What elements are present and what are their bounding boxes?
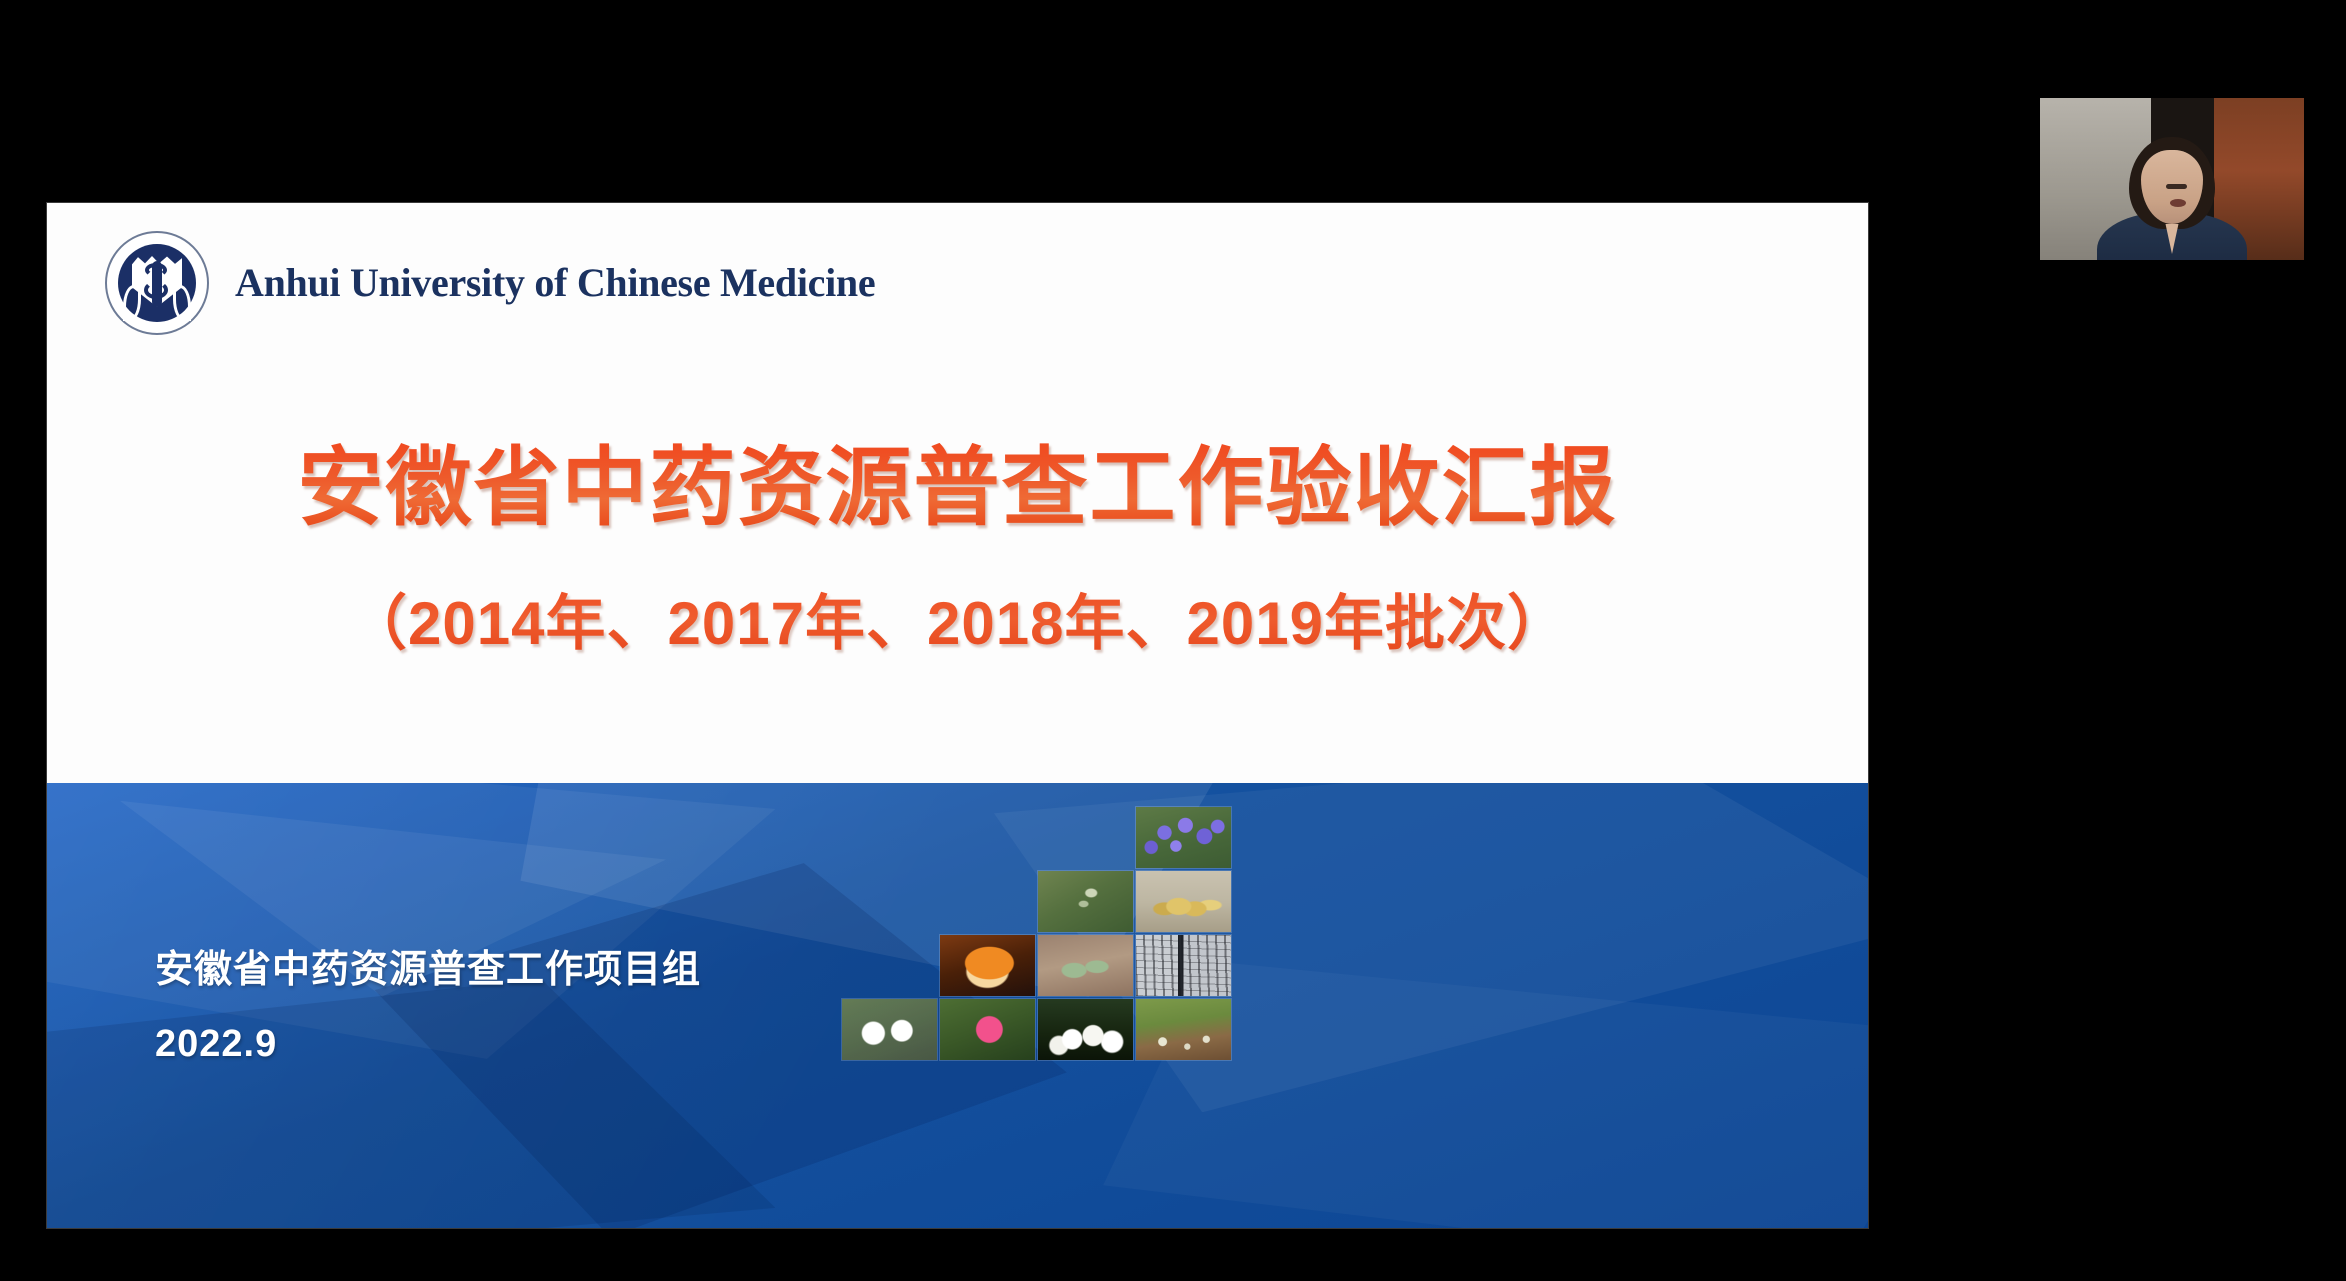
slide-upper-panel: Anhui University of Chinese Medicine 安徽省… xyxy=(47,203,1868,783)
slide-lower-panel: 安徽省中药资源普查工作项目组 2022.9 xyxy=(47,783,1868,1228)
photo-content xyxy=(1136,999,1231,1060)
bark-texture-photo xyxy=(1136,935,1231,996)
photo-mosaic xyxy=(842,807,1234,1065)
photo-content xyxy=(1136,935,1231,996)
pink-peony-photo xyxy=(940,999,1035,1060)
photo-content xyxy=(1136,871,1231,932)
slide-footer: 安徽省中药资源普查工作项目组 2022.9 xyxy=(155,951,701,1063)
yellow-rhizome-photo xyxy=(1136,871,1231,932)
photo-content xyxy=(940,999,1035,1060)
photo-content xyxy=(1136,807,1231,868)
slide-title: 安徽省中药资源普查工作验收汇报 xyxy=(47,443,1868,533)
brand-lockup: Anhui University of Chinese Medicine xyxy=(105,231,875,335)
university-name: Anhui University of Chinese Medicine xyxy=(235,263,875,303)
photo-content xyxy=(1038,935,1133,996)
photo-content xyxy=(1038,999,1133,1060)
photo-content xyxy=(940,935,1035,996)
presentation-slide[interactable]: Anhui University of Chinese Medicine 安徽省… xyxy=(47,203,1868,1228)
participant-eye-right xyxy=(2174,184,2187,189)
screen-share-stage: Anhui University of Chinese Medicine 安徽省… xyxy=(0,0,2346,1281)
photo-content xyxy=(842,999,937,1060)
participant-mouth xyxy=(2170,199,2186,207)
herb-field-photo xyxy=(1136,999,1231,1060)
photo-content xyxy=(1038,871,1133,932)
ganoderma-mushroom-photo xyxy=(940,935,1035,996)
bellflower-purple-photo xyxy=(1136,807,1231,868)
seedling-sprout-photo xyxy=(1038,935,1133,996)
white-peony-photo xyxy=(842,999,937,1060)
green-herb-photo xyxy=(1038,871,1133,932)
slide-subtitle: （2014年、2017年、2018年、2019年批次） xyxy=(47,575,1868,662)
participant-video-thumbnail[interactable] xyxy=(2040,98,2304,260)
presentation-date: 2022.9 xyxy=(155,1025,701,1063)
white-chrysanthemum-photo xyxy=(1038,999,1133,1060)
university-seal-icon xyxy=(105,231,209,335)
project-group-name: 安徽省中药资源普查工作项目组 xyxy=(155,951,701,989)
